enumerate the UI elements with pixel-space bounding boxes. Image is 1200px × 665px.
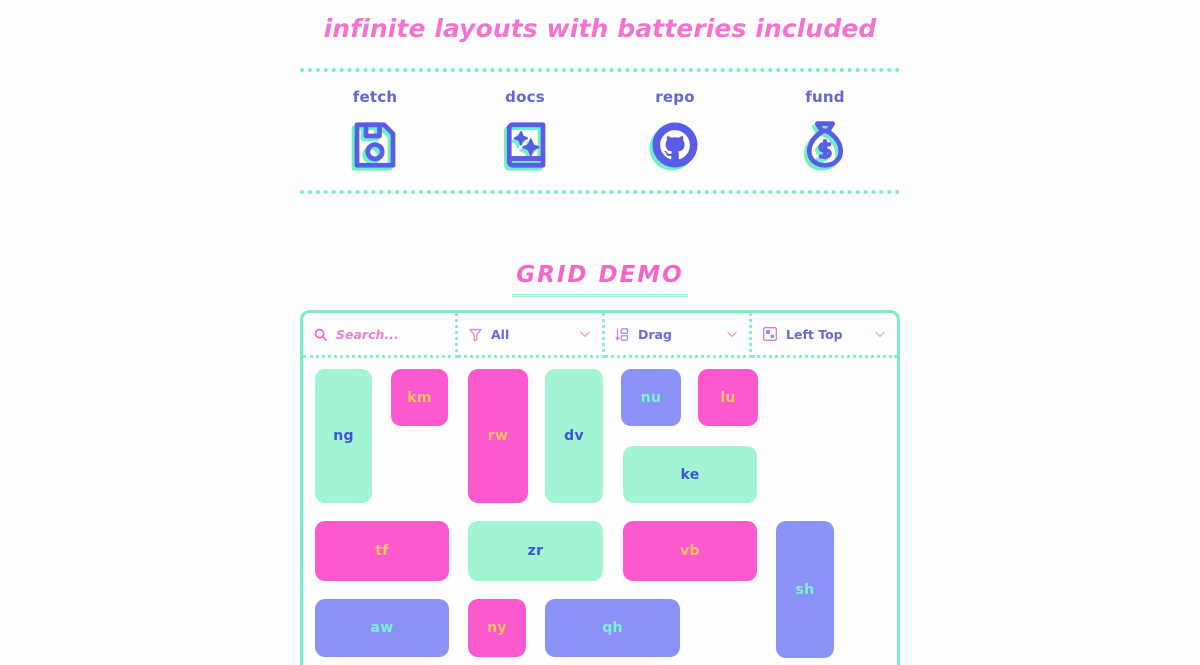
align-left-top-icon <box>762 326 778 342</box>
grid-tile[interactable]: lu <box>698 369 758 426</box>
grid-tile[interactable]: ng <box>315 369 372 503</box>
grid-tile-label: nu <box>641 390 662 406</box>
sort-value: Drag <box>638 327 717 342</box>
quick-links-strip: fetch docs repo <box>300 68 900 194</box>
grid-tile[interactable]: ke <box>623 446 757 503</box>
grid-tile-label: vb <box>680 543 700 559</box>
grid-tile[interactable]: aw <box>315 599 449 657</box>
search-field[interactable]: Search... <box>303 313 458 358</box>
tile-grid: ngkmrwdvnuluketfzrvbshawnyqh <box>303 358 897 665</box>
page-root: infinite layouts with batteries included… <box>0 0 1200 665</box>
quick-link-fetch[interactable]: fetch <box>300 88 450 172</box>
grid-tile-label: zr <box>528 543 544 559</box>
grid-tile[interactable]: nu <box>621 369 681 426</box>
github-icon[interactable] <box>648 118 702 172</box>
section-title-container: GRID DEMO <box>0 262 1200 297</box>
quick-link-fund[interactable]: fund <box>750 88 900 172</box>
quick-link-label: fund <box>805 88 844 106</box>
grid-tile[interactable]: rw <box>468 369 528 503</box>
grid-tile-label: sh <box>796 582 815 598</box>
grid-tile-label: lu <box>720 390 735 406</box>
floppy-disk-icon[interactable] <box>348 118 402 172</box>
grid-tile[interactable]: km <box>391 369 448 426</box>
money-bag-icon[interactable] <box>798 118 852 172</box>
grid-tile[interactable]: qh <box>545 599 680 657</box>
grid-tile-label: tf <box>375 543 388 559</box>
grid-tile-label: rw <box>488 428 508 444</box>
grid-tile-label: aw <box>371 620 394 636</box>
chevron-down-icon[interactable] <box>873 327 887 341</box>
filter-dropdown[interactable]: All <box>458 313 605 358</box>
section-title: GRID DEMO <box>512 262 688 297</box>
grid-tile[interactable]: vb <box>623 521 757 581</box>
grid-tile-label: km <box>407 390 432 406</box>
layout-dropdown[interactable]: Left Top <box>752 313 897 358</box>
chevron-down-icon[interactable] <box>725 327 739 341</box>
search-input-placeholder[interactable]: Search... <box>336 327 445 342</box>
grid-tile[interactable]: dv <box>545 369 603 503</box>
grid-tile-label: dv <box>564 428 584 444</box>
quick-link-repo[interactable]: repo <box>600 88 750 172</box>
filter-value: All <box>491 327 570 342</box>
grid-tile-label: ng <box>333 428 354 444</box>
sort-icon <box>615 327 630 342</box>
grid-tile-label: ke <box>680 467 699 483</box>
quick-link-label: docs <box>505 88 545 106</box>
page-title: infinite layouts with batteries included <box>0 14 1200 43</box>
quick-link-label: repo <box>655 88 694 106</box>
grid-tile[interactable]: ny <box>468 599 526 657</box>
grid-tile[interactable]: tf <box>315 521 449 581</box>
book-sparkle-icon[interactable] <box>498 118 552 172</box>
search-icon <box>313 327 328 342</box>
grid-toolbar: Search... All <box>303 313 897 358</box>
funnel-icon <box>468 327 483 342</box>
quick-link-docs[interactable]: docs <box>450 88 600 172</box>
layout-value: Left Top <box>786 327 865 342</box>
grid-tile[interactable]: zr <box>468 521 603 581</box>
grid-tile-label: qh <box>602 620 623 636</box>
quick-link-label: fetch <box>353 88 397 106</box>
sort-dropdown[interactable]: Drag <box>605 313 752 358</box>
grid-tile-label: ny <box>487 620 507 636</box>
grid-demo-panel: Search... All <box>300 310 900 665</box>
grid-tile[interactable]: sh <box>776 521 834 658</box>
chevron-down-icon[interactable] <box>578 327 592 341</box>
